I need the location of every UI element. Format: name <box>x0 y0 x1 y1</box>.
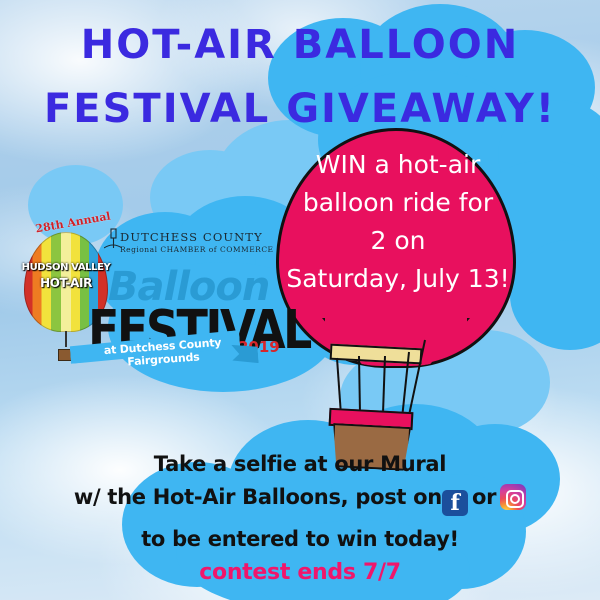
bridge-icon <box>104 228 122 254</box>
offer-line-4: Saturday, July 13! <box>286 260 510 298</box>
facebook-icon[interactable]: f <box>442 490 468 516</box>
offer-line-1: WIN a hot-air <box>286 146 510 184</box>
instagram-icon[interactable] <box>500 484 526 510</box>
poster-canvas: HOT-AIR BALLOON FESTIVAL GIVEAWAY! WIN a… <box>0 0 600 600</box>
headline-line-1: HOT-AIR BALLOON <box>0 22 600 68</box>
chamber-line-1: DUTCHESS COUNTY <box>120 230 290 244</box>
chamber-line-2: Regional CHAMBER of COMMERCE <box>120 245 290 254</box>
festival-logo: 28th Annual HUDSON VALLEY HOT-AIR DUTCHE… <box>10 206 295 366</box>
cta-or-text: or <box>468 485 500 509</box>
chamber-of-commerce-logo: DUTCHESS COUNTY Regional CHAMBER of COMM… <box>120 230 290 254</box>
offer-line-2: balloon ride for <box>286 184 510 222</box>
cta-deadline: contest ends 7/7 <box>0 560 600 585</box>
offer-line-3: 2 on <box>286 222 510 260</box>
logo-balloon-label-1: HUDSON VALLEY <box>18 262 114 273</box>
cta-line-3: to be entered to win today! <box>0 527 600 551</box>
balloon-offer-copy: WIN a hot-air balloon ride for 2 on Satu… <box>286 146 510 298</box>
cta-line-2: w/ the Hot-Air Balloons, post onfor <box>0 484 600 516</box>
logo-balloon-label-2: HOT-AIR <box>18 276 114 290</box>
cta-line-2-text: w/ the Hot-Air Balloons, post on <box>74 485 442 509</box>
cta-line-1: Take a selfie at our Mural <box>0 452 600 476</box>
headline-line-2: FESTIVAL GIVEAWAY! <box>0 86 600 132</box>
